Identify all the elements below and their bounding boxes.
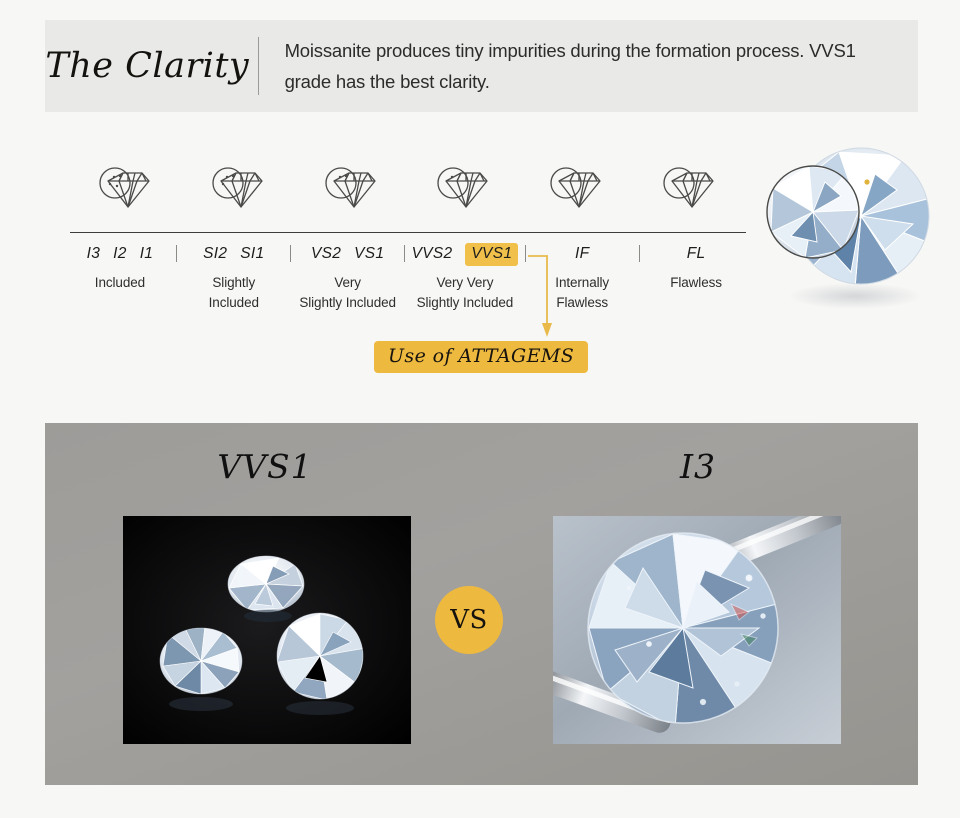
grade-code-fl[interactable]: FL <box>687 245 706 263</box>
grade-code-vs1[interactable]: VS1 <box>354 245 384 263</box>
grade-codes: IF <box>575 244 589 264</box>
grade-codes: I3I2I1 <box>87 244 154 264</box>
clarity-header-band: The Clarity Moissanite produces tiny imp… <box>45 20 918 112</box>
comparison-left-photo <box>123 516 411 744</box>
diamond-loupe-icon <box>433 162 495 218</box>
grade-separator <box>632 244 646 262</box>
comparison-right-photo <box>553 516 841 744</box>
page-title: The Clarity <box>45 46 258 86</box>
grade-code-si2[interactable]: SI2 <box>203 245 227 263</box>
grade-description: Very Very Slightly Included <box>417 273 514 313</box>
grade-code-if[interactable]: IF <box>575 245 589 263</box>
grade-group-vs2: VS2VS1Very Slightly Included <box>298 244 398 313</box>
diamond-loupe-icon <box>95 162 157 218</box>
clarity-icon-si2 <box>183 162 296 218</box>
use-of-attagems-badge: Use of ATTAGEMS <box>374 341 588 373</box>
diamond-loupe-icon <box>546 162 608 218</box>
comparison-right-title: I3 <box>478 447 918 486</box>
grade-separator <box>170 244 184 262</box>
grade-separator <box>518 244 532 262</box>
grade-code-i2[interactable]: I2 <box>113 245 127 263</box>
grade-code-vs2[interactable]: VS2 <box>311 245 341 263</box>
clarity-scale: I3I2I1IncludedSI2SI1Slightly IncludedVS2… <box>70 150 746 313</box>
grade-code-vvs1[interactable]: VVS1 <box>465 243 518 266</box>
clarity-icon-vs2 <box>295 162 408 218</box>
header-description: Moissanite produces tiny impurities duri… <box>259 35 918 97</box>
grade-group-i3: I3I2I1Included <box>70 244 170 293</box>
clarity-icon-i3 <box>70 162 183 218</box>
hero-diamond-loupe-photo <box>755 138 940 313</box>
grade-codes: VVS2VVS1 <box>412 244 519 264</box>
grade-group-vvs2: VVS2VVS1Very Very Slightly Included <box>412 244 519 313</box>
comparison-panel: VVS1 I3 <box>45 423 918 785</box>
grade-codes: SI2SI1 <box>203 244 264 264</box>
grade-description: Very Slightly Included <box>299 273 396 313</box>
diamond-loupe-icon <box>321 162 383 218</box>
grade-code-si1[interactable]: SI1 <box>240 245 264 263</box>
scale-rule <box>70 232 746 233</box>
grade-separator <box>284 244 298 262</box>
grade-description: Slightly Included <box>209 273 259 313</box>
grade-code-i1[interactable]: I1 <box>140 245 154 263</box>
grade-codes: FL <box>687 244 706 264</box>
grade-description: Included <box>95 273 145 293</box>
grade-group-if: IFInternally Flawless <box>532 244 632 313</box>
grade-separator <box>398 244 412 262</box>
clarity-grade-row: I3I2I1IncludedSI2SI1Slightly IncludedVS2… <box>70 244 746 313</box>
clarity-icon-row <box>70 150 746 230</box>
grade-group-fl: FLFlawless <box>646 244 746 293</box>
clarity-icon-if <box>521 162 634 218</box>
grade-codes: VS2VS1 <box>311 244 384 264</box>
grade-code-vvs2[interactable]: VVS2 <box>412 245 453 263</box>
grade-description: Internally Flawless <box>555 273 609 313</box>
grade-group-si2: SI2SI1Slightly Included <box>184 244 284 313</box>
grade-code-i3[interactable]: I3 <box>87 245 101 263</box>
diamond-loupe-icon <box>208 162 270 218</box>
comparison-left-title: VVS1 <box>45 447 485 486</box>
grade-description: Flawless <box>670 273 722 293</box>
vs-badge: VS <box>435 586 503 654</box>
clarity-icon-vvs2 <box>408 162 521 218</box>
clarity-icon-fl <box>633 162 746 218</box>
diamond-loupe-icon <box>659 162 721 218</box>
